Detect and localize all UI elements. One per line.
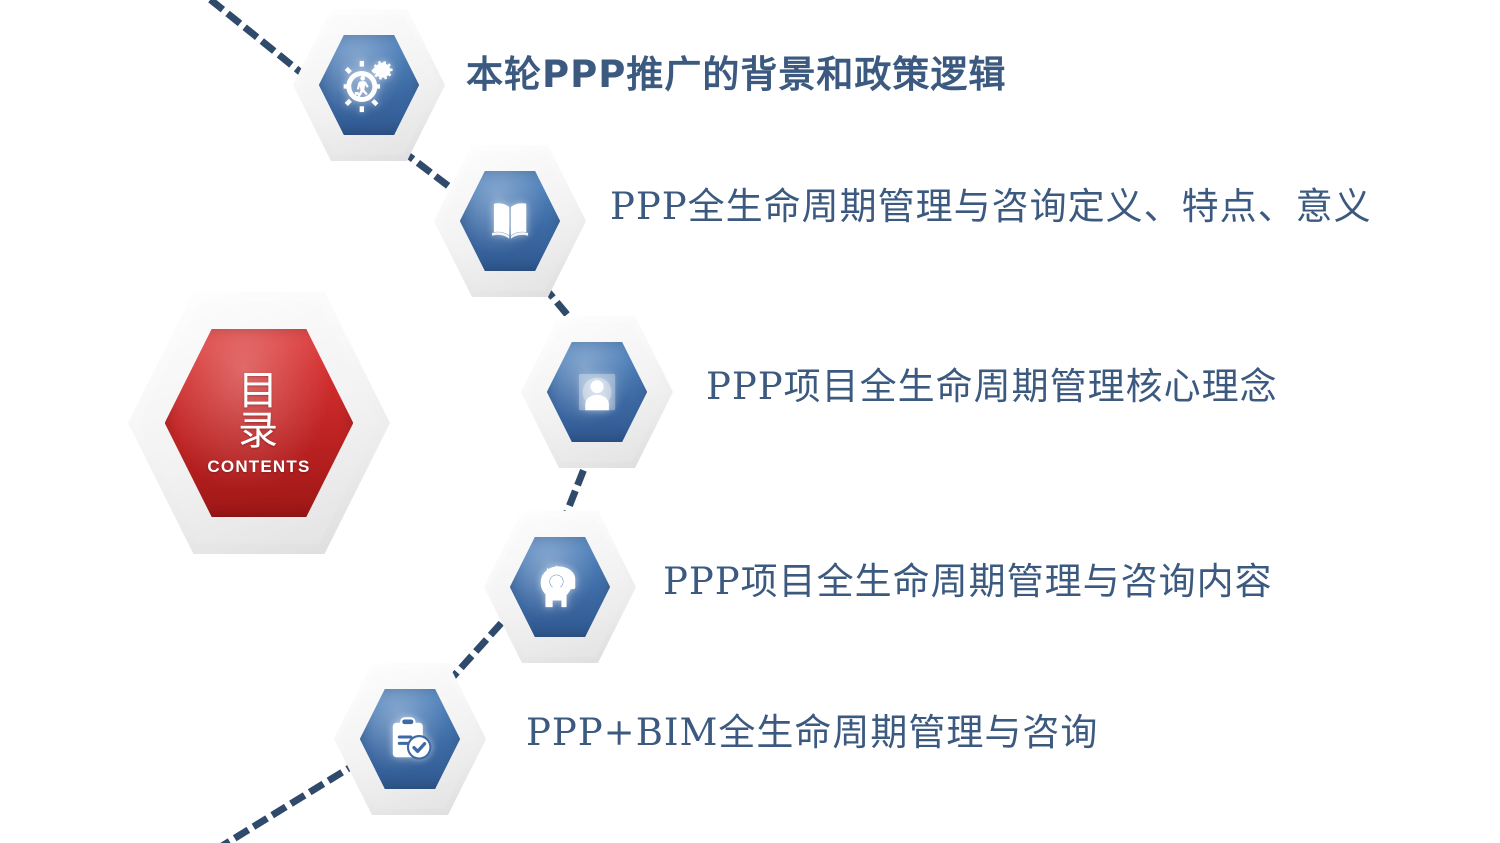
item-hexagon-1[interactable] bbox=[293, 9, 445, 161]
item-label-4: PPP项目全生命周期管理与咨询内容 bbox=[663, 563, 1273, 600]
contents-label-group: 目 录 CONTENTS bbox=[207, 371, 310, 475]
item-hexagon-3[interactable] bbox=[521, 316, 673, 468]
item-2-text: PPP全生命周期管理与咨询定义、特点、意义 bbox=[610, 185, 1372, 228]
user-avatar-icon bbox=[568, 363, 626, 421]
slide-canvas: 目 录 CONTENTS bbox=[0, 0, 1500, 843]
clipboard-check-icon bbox=[381, 710, 439, 768]
item-hexagon-5[interactable] bbox=[334, 663, 486, 815]
item-hexagon-4[interactable] bbox=[484, 511, 636, 663]
item-label-2: PPP全生命周期管理与咨询定义、特点、意义 bbox=[610, 188, 1372, 225]
item-4-text: PPP项目全生命周期管理与咨询内容 bbox=[663, 560, 1273, 603]
item-5-text: PPP+BIM全生命周期管理与咨询 bbox=[526, 711, 1098, 754]
item-3-text: PPP项目全生命周期管理核心理念 bbox=[706, 365, 1278, 408]
open-book-icon bbox=[481, 192, 539, 250]
contents-cn-line2: 录 bbox=[207, 411, 310, 451]
item-1-text: 本轮PPP推广的背景和政策逻辑 bbox=[466, 53, 1006, 96]
head-lightbulb-icon bbox=[531, 558, 589, 616]
worker-gear-icon bbox=[340, 56, 398, 114]
contents-en-label: CONTENTS bbox=[207, 458, 310, 475]
contents-cn-line1: 目 bbox=[207, 371, 310, 411]
item-label-5: PPP+BIM全生命周期管理与咨询 bbox=[526, 714, 1098, 751]
item-label-1: 本轮PPP推广的背景和政策逻辑 bbox=[466, 56, 1006, 93]
item-label-3: PPP项目全生命周期管理核心理念 bbox=[706, 368, 1278, 405]
contents-hexagon: 目 录 CONTENTS bbox=[128, 292, 390, 554]
item-hexagon-2[interactable] bbox=[434, 145, 586, 297]
